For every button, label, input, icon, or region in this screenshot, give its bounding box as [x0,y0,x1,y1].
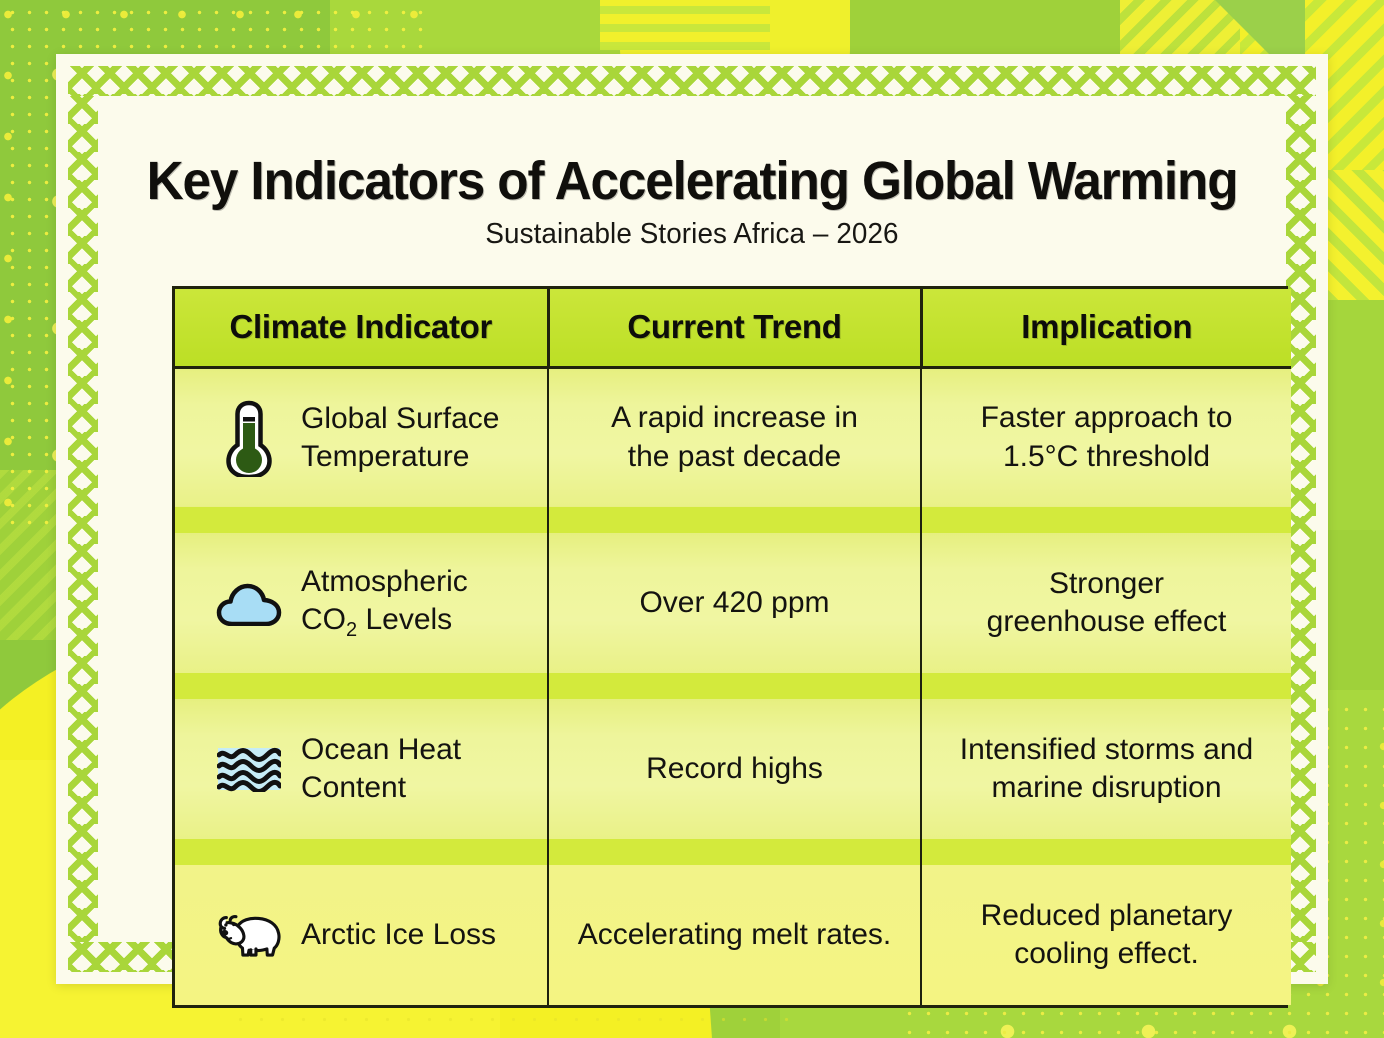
cell-current-trend: Accelerating melt rates. [548,865,921,1005]
indicator-label-line1: Global Surface [301,402,499,435]
poster-card: Key Indicators of Accelerating Global Wa… [56,54,1328,984]
cell-indicator: Global Surface Temperature [175,367,548,507]
indicator-label-line2-tail: Levels [357,603,452,636]
indicator-label-subscript: 2 [346,619,357,641]
polar-bear-icon [215,909,283,961]
implication-line-1: Faster approach to [932,399,1281,437]
cell-implication: Faster approach to 1.5°C threshold [921,367,1291,507]
lattice-border-left [68,96,98,942]
row-divider-band [175,507,1291,533]
heading-block: Key Indicators of Accelerating Global Wa… [98,152,1286,251]
table-row: Ocean Heat Content Record highs Intensif… [175,699,1291,839]
implication-line-2: marine disruption [932,769,1281,807]
cell-current-trend: Over 420 ppm [548,533,921,673]
column-header-climate-indicator: Climate Indicator [175,289,548,367]
card-inner-surface: Key Indicators of Accelerating Global Wa… [98,96,1286,942]
indicator-label-line2: CO [301,603,346,636]
page-title: Key Indicators of Accelerating Global Wa… [128,152,1257,210]
cell-indicator: Ocean Heat Content [175,699,548,839]
implication-line-2: greenhouse effect [932,603,1281,641]
row-divider-band [175,839,1291,865]
row-divider-band [175,673,1291,699]
implication-line-2: 1.5°C threshold [932,438,1281,476]
cell-indicator: Arctic Ice Loss [175,865,548,1005]
cell-current-trend: Record highs [548,699,921,839]
table-header: Climate Indicator Current Trend Implicat… [175,289,1291,367]
table-row: Arctic Ice Loss Accelerating melt rates.… [175,865,1291,1005]
column-header-current-trend: Current Trend [548,289,921,367]
waves-icon [215,746,283,792]
table-body: Global Surface Temperature A rapid incre… [175,367,1291,1005]
indicator-label-line1: Ocean Heat [301,733,461,766]
cell-current-trend: A rapid increase in the past decade [548,367,921,507]
indicator-label-line1: Atmospheric [301,565,468,598]
indicator-label: Ocean Heat Content [301,731,461,807]
trend-line-2: the past decade [559,438,910,476]
implication-line-1: Reduced planetary [932,897,1281,935]
table-row: Global Surface Temperature A rapid incre… [175,367,1291,507]
cell-implication: Reduced planetary cooling effect. [921,865,1291,1005]
background-stripes-topmid [600,0,770,50]
thermometer-icon [215,399,283,477]
indicator-label: Atmospheric CO2 Levels [301,563,468,643]
indicator-label-line2: Temperature [301,440,469,473]
cell-indicator: Atmospheric CO2 Levels [175,533,548,673]
indicator-label: Arctic Ice Loss [301,916,496,954]
trend-line-1: Over 420 ppm [559,584,910,622]
indicator-label: Global Surface Temperature [301,400,499,476]
cell-implication: Intensified storms and marine disruption [921,699,1291,839]
column-header-implication: Implication [921,289,1291,367]
cloud-icon [215,580,283,626]
cell-implication: Stronger greenhouse effect [921,533,1291,673]
indicator-label-line1: Arctic Ice Loss [301,918,496,951]
table-header-row: Climate Indicator Current Trend Implicat… [175,289,1291,367]
trend-line-1: Accelerating melt rates. [559,916,910,954]
indicator-label-line2: Content [301,771,406,804]
indicators-table-container: Climate Indicator Current Trend Implicat… [172,286,1288,1008]
poster-canvas: Key Indicators of Accelerating Global Wa… [0,0,1384,1038]
indicators-table: Climate Indicator Current Trend Implicat… [175,289,1291,1005]
trend-line-1: Record highs [559,750,910,788]
page-subtitle: Sustainable Stories Africa – 2026 [122,218,1262,251]
trend-line-1: A rapid increase in [559,399,910,437]
implication-line-1: Intensified storms and [932,731,1281,769]
implication-line-2: cooling effect. [932,935,1281,973]
implication-line-1: Stronger [932,565,1281,603]
lattice-border-top [68,66,1316,96]
table-row: Atmospheric CO2 Levels Over 420 ppm Stro… [175,533,1291,673]
